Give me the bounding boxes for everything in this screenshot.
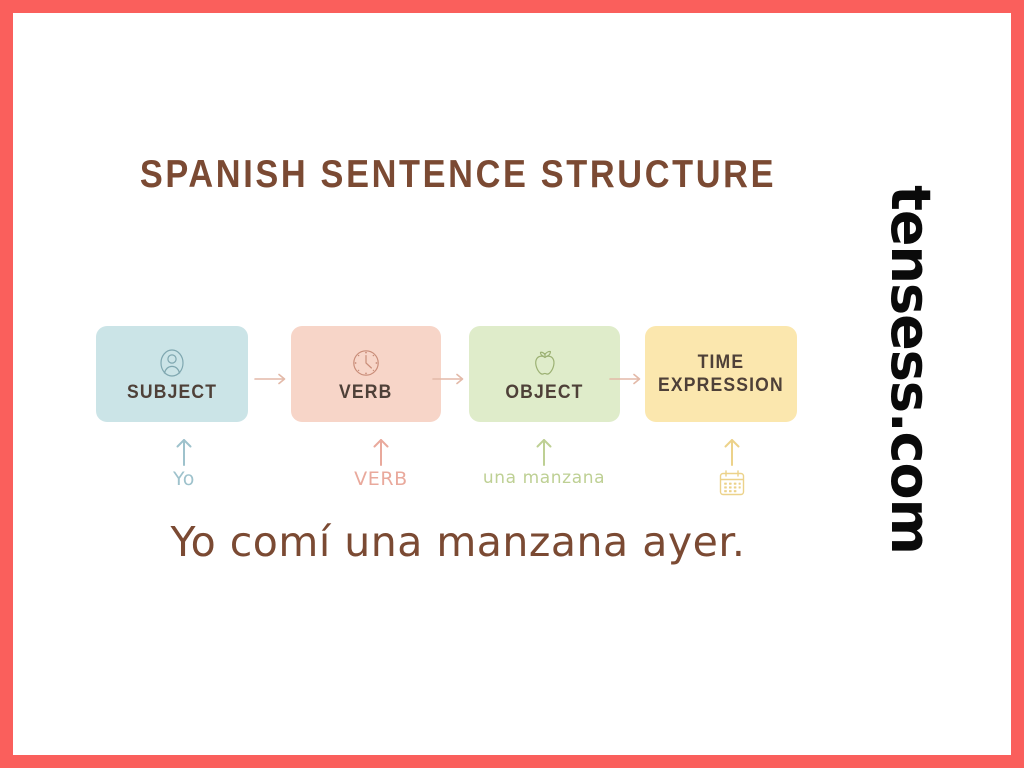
clock-icon [350, 346, 382, 380]
example-sentence: Yo comí una manzana ayer. [13, 518, 903, 566]
flow-box-object[interactable]: OBJECT [469, 326, 620, 422]
callout-subject-text: Yo [173, 468, 195, 490]
watermark: tensess.com [879, 185, 942, 554]
flow-box-time-expression[interactable]: TIME EXPRESSION [645, 326, 797, 422]
callout-time-expression [647, 437, 817, 503]
arrow-right-icon [432, 372, 466, 374]
flow-box-time-expression-label-line1: TIME [698, 351, 745, 374]
person-icon [156, 346, 188, 380]
arrow-up-icon [534, 437, 554, 467]
arrow-up-icon [174, 437, 194, 467]
callout-object: una manzana [459, 437, 629, 488]
calendar-icon [717, 468, 747, 503]
flow-box-object-label: OBJECT [505, 382, 583, 402]
callout-verb: VERB [296, 437, 466, 490]
poster-canvas: SPANISH SENTENCE STRUCTURE SUBJECT [13, 13, 1011, 755]
arrow-up-icon [371, 437, 391, 467]
callout-verb-text: VERB [354, 468, 408, 490]
callout-subject: Yo [99, 437, 269, 490]
flow-box-subject[interactable]: SUBJECT [96, 326, 248, 422]
arrow-up-icon [722, 437, 742, 467]
flow-box-time-expression-label-line2: EXPRESSION [658, 374, 784, 397]
arrow-right-icon [609, 372, 643, 374]
poster-frame: SPANISH SENTENCE STRUCTURE SUBJECT [0, 0, 1024, 768]
flow-box-verb-label: VERB [339, 382, 392, 402]
page-title: SPANISH SENTENCE STRUCTURE [66, 153, 849, 197]
callout-object-text: una manzana [483, 468, 605, 488]
arrow-right-icon [254, 372, 288, 374]
flow-box-subject-label: SUBJECT [127, 382, 217, 402]
apple-icon [530, 346, 560, 380]
sentence-structure-flow: SUBJECT [96, 326, 871, 422]
flow-box-verb[interactable]: VERB [291, 326, 441, 422]
